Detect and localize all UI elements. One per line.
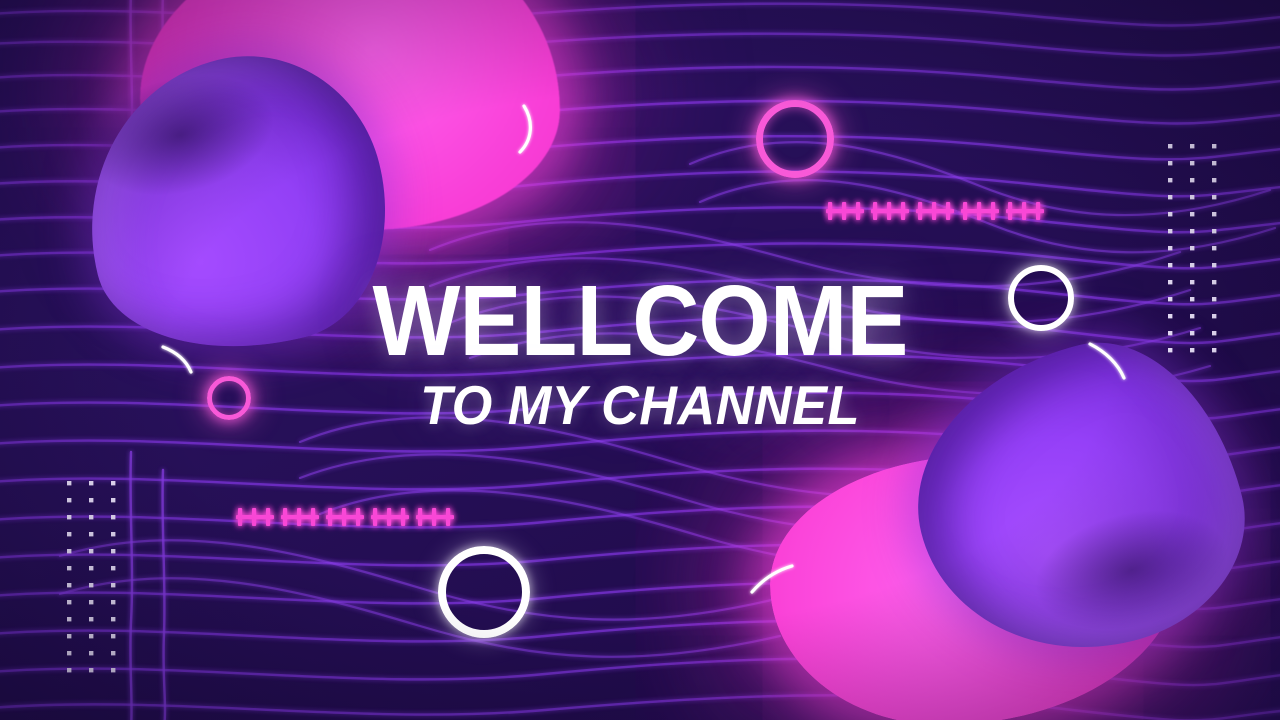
background-contour-lines (0, 0, 1280, 720)
poster-canvas: WELLCOME TO MY CHANNEL (0, 0, 1280, 720)
